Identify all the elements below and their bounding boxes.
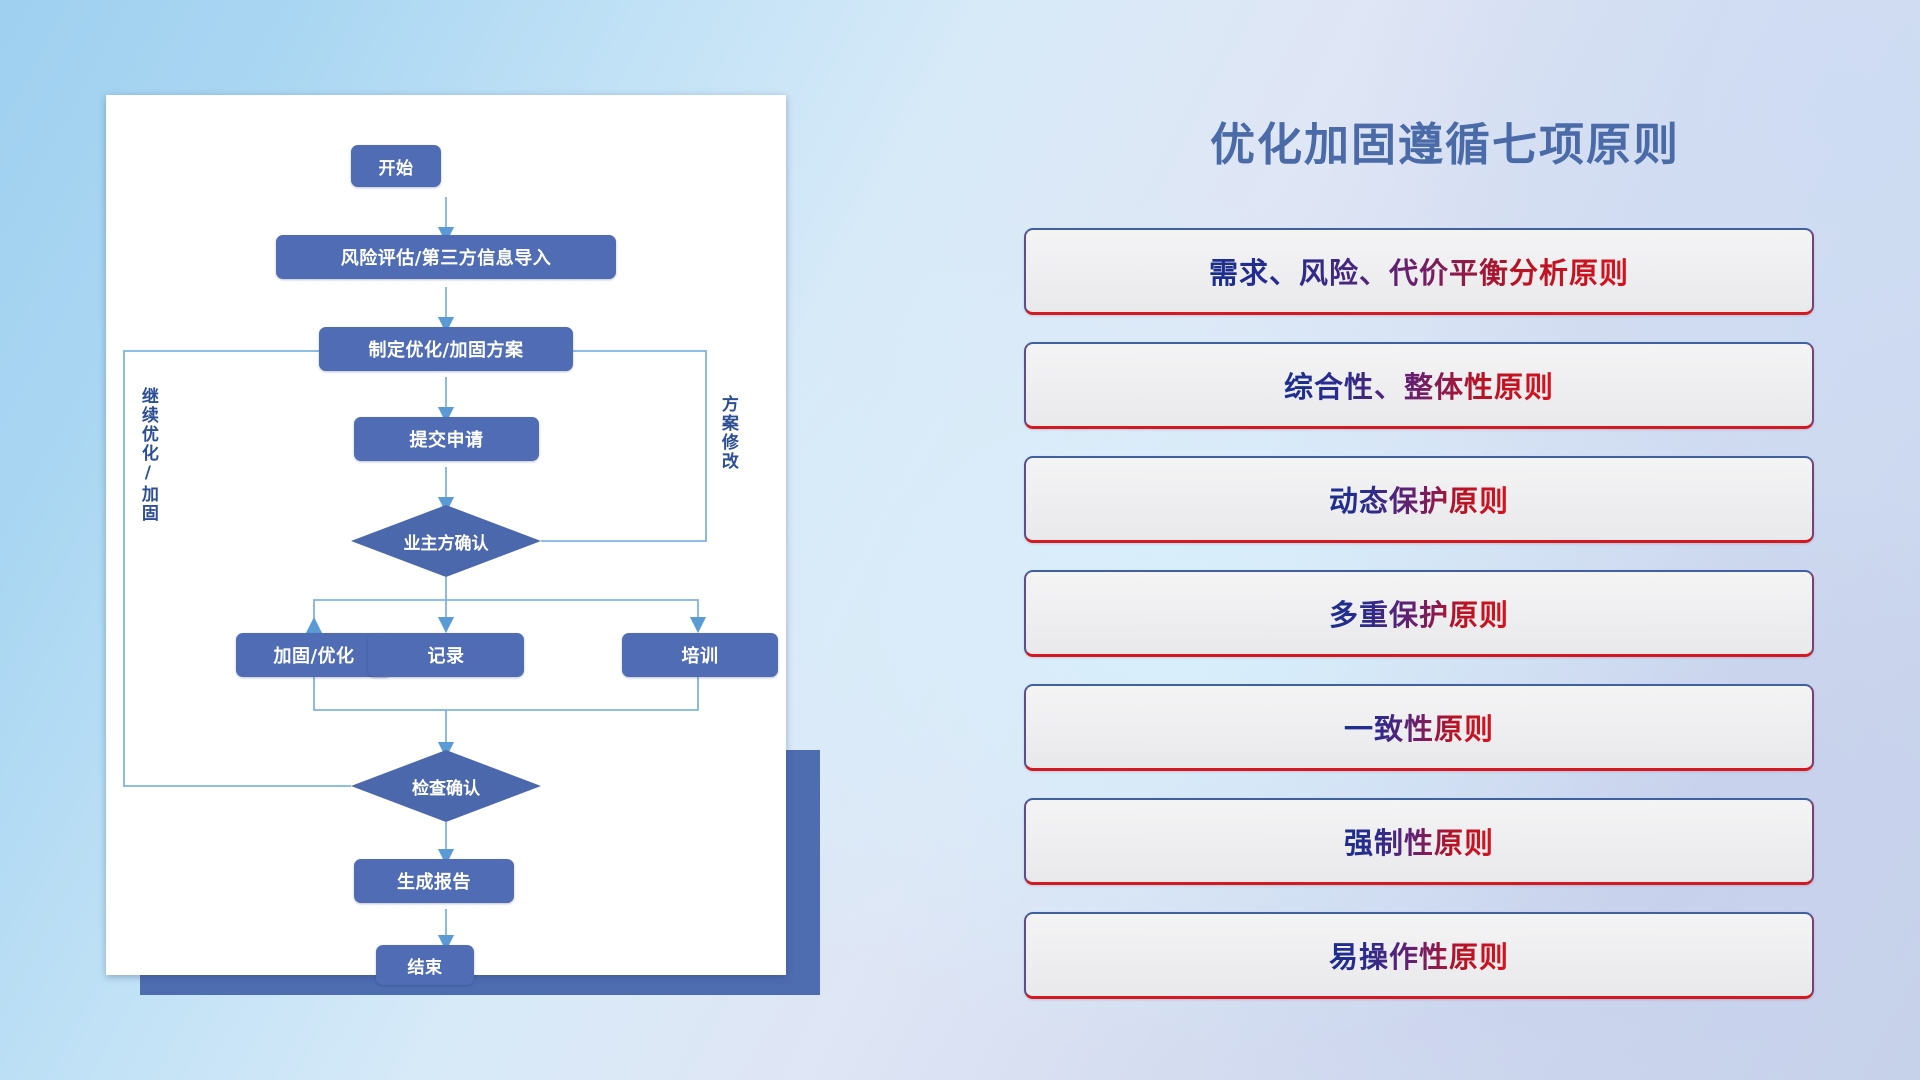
flow-edge-label-plan-revision: 方案修改 bbox=[718, 395, 736, 471]
principle-label: 综合性、整体性原则 bbox=[1284, 364, 1554, 406]
flow-node-submit-application[interactable]: 提交申请 bbox=[354, 417, 539, 461]
principles-list: 需求、风险、代价平衡分析原则 综合性、整体性原则 动态保护原则 多重保护原则 一… bbox=[1024, 228, 1814, 1026]
slide-canvas: 开始 风险评估/第三方信息导入 制定优化/加固方案 提交申请 业主方确认 加固/… bbox=[0, 0, 1920, 1080]
principle-label: 易操作性原则 bbox=[1329, 934, 1509, 976]
principle-card-2[interactable]: 综合性、整体性原则 bbox=[1024, 342, 1814, 429]
principle-label: 多重保护原则 bbox=[1329, 592, 1509, 634]
principle-card-5[interactable]: 一致性原则 bbox=[1024, 684, 1814, 771]
principle-card-4[interactable]: 多重保护原则 bbox=[1024, 570, 1814, 657]
principle-label: 一致性原则 bbox=[1344, 706, 1494, 748]
page-title: 优化加固遵循七项原则 bbox=[1030, 108, 1860, 173]
flow-node-make-plan[interactable]: 制定优化/加固方案 bbox=[319, 327, 573, 371]
flow-node-end[interactable]: 结束 bbox=[376, 945, 474, 985]
principle-label: 需求、风险、代价平衡分析原则 bbox=[1209, 250, 1629, 292]
principle-card-3[interactable]: 动态保护原则 bbox=[1024, 456, 1814, 543]
flow-node-record[interactable]: 记录 bbox=[368, 633, 524, 677]
flow-node-generate-report[interactable]: 生成报告 bbox=[354, 859, 514, 903]
principle-label: 强制性原则 bbox=[1344, 820, 1494, 862]
flowchart-card: 开始 风险评估/第三方信息导入 制定优化/加固方案 提交申请 业主方确认 加固/… bbox=[106, 95, 786, 975]
flow-node-start[interactable]: 开始 bbox=[351, 145, 441, 187]
flow-node-training[interactable]: 培训 bbox=[622, 633, 778, 677]
flow-node-risk-assessment[interactable]: 风险评估/第三方信息导入 bbox=[276, 235, 616, 279]
flow-edge-label-continue-optimize: 继续优化/加固 bbox=[138, 387, 156, 523]
principle-label: 动态保护原则 bbox=[1329, 478, 1509, 520]
principle-card-7[interactable]: 易操作性原则 bbox=[1024, 912, 1814, 999]
principle-card-1[interactable]: 需求、风险、代价平衡分析原则 bbox=[1024, 228, 1814, 315]
principle-card-6[interactable]: 强制性原则 bbox=[1024, 798, 1814, 885]
